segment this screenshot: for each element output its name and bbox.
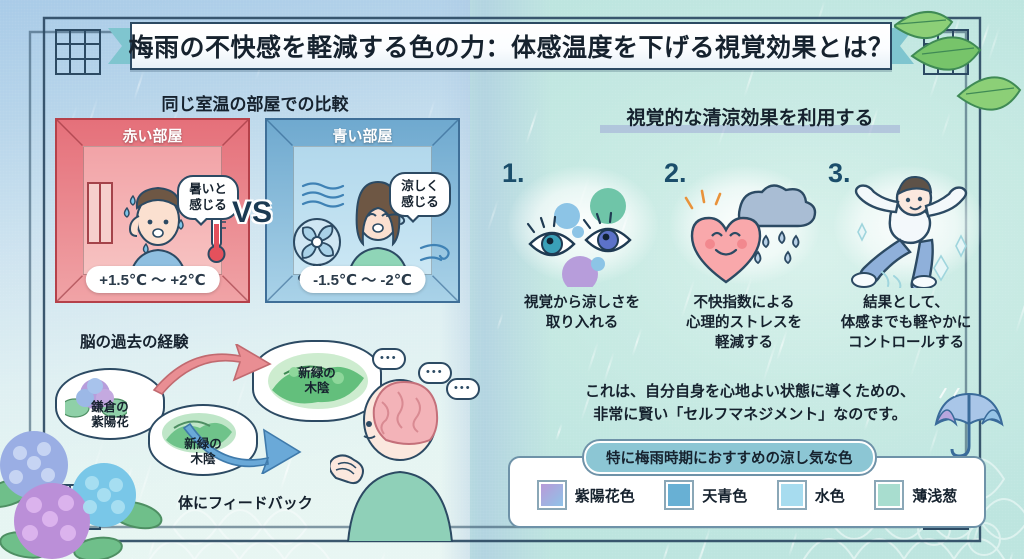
memory-cloud-greenshade: 新緑の 木陰 [148,404,258,476]
caption-line-3: 軽減する [715,335,773,351]
swatch-label: 天青色 [702,485,747,506]
page-title: 梅雨の不快感を軽減する色の力：体感温度を下げる視覚効果とは？ [129,28,894,64]
swatch-item-0[interactable]: 紫陽花色 [537,480,635,510]
feedback-label: 体にフィードバック [178,492,313,513]
memory-label-line1: 鎌倉の [91,400,129,414]
brain-experience-heading: 脳の過去の経験 [80,330,189,352]
thought-label-line2: 木陰 [304,381,329,395]
summary-paragraph: これは、自分自身を心地よい状態に導くための、 非常に賢い「セルフマネジメント」な… [520,381,980,426]
caption-line-2: 取り入れる [546,315,619,331]
swatch-item-1[interactable]: 天青色 [664,480,747,510]
step-glow [834,166,984,284]
speech-dots-3: ••• [446,378,480,400]
bubble-line-2: 感じる [189,198,227,212]
caption-line-1: 不快指数による [693,295,794,311]
swatch-chip-tensei [664,480,694,510]
swatch-row: 紫陽花色 天青色 水色 薄浅葱 [510,480,984,510]
memory-label-line1: 新緑の [184,437,222,451]
swatch-label: 薄浅葱 [912,485,957,506]
caption-line-2: 体感までも軽やかに [841,315,972,331]
step-glow [508,166,658,284]
swatch-card-title: 特に梅雨時期におすすめの涼し気な色 [584,441,875,474]
speech-bubble-hot: 暑いと 感じる [177,175,239,220]
temperature-badge-blue: -1.5℃ ～ -2℃ [299,266,426,293]
paragraph-line-1: これは、自分自身を心地よい状態に導くための、 [585,383,915,400]
step-glow [670,166,820,284]
thought-dot-small [372,408,382,418]
room-label-blue: 青い部屋 [267,125,458,146]
step-3-caption: 結果として、 体感までも軽やかに コントロールする [818,293,994,353]
caption-line-2: 心理的ストレスを [686,315,802,331]
caption-line-3: コントロールする [848,335,964,351]
caption-line-1: 視覚から涼しさを [524,295,640,311]
swatch-label: 紫陽花色 [575,485,635,506]
swatch-chip-usuasagi [874,480,904,510]
bubble-line-1: 涼しく [401,179,439,193]
thought-cloud-greenshade: 新緑の 木陰 [252,340,382,422]
swatch-item-2[interactable]: 水色 [777,480,845,510]
infographic-poster: 梅雨の不快感を軽減する色の力：体感温度を下げる視覚効果とは？ 同じ室温の部屋での… [0,0,1024,559]
vs-label: VS [232,196,272,230]
title-banner: 梅雨の不快感を軽減する色の力：体感温度を下げる視覚効果とは？ [130,22,892,70]
memory-label-line2: 木陰 [190,452,215,466]
paragraph-line-2: 非常に賢い「セルフマネジメント」なのです。 [593,406,907,423]
thought-dot-tiny [386,420,392,426]
comparison-heading: 同じ室温の部屋での比較 [60,90,450,115]
swatch-item-3[interactable]: 薄浅葱 [874,480,957,510]
speech-bubble-cool: 涼しく 感じる [389,172,451,217]
temperature-badge-red: +1.5℃ ～ +2℃ [85,266,219,293]
speech-dots-1: ••• [372,348,406,370]
swatch-chip-mizuiro [777,480,807,510]
right-section-heading: 視覚的な清涼効果を利用する [500,103,1000,130]
room-label-red: 赤い部屋 [57,125,248,146]
step-number: 1. [502,158,525,189]
room-card-blue: 青い部屋 [265,118,460,303]
step-number: 2. [664,158,687,189]
room-card-red: 赤い部屋 [55,118,250,303]
bubble-line-2: 感じる [401,195,439,209]
bubble-line-1: 暑いと [189,182,227,196]
step-2-caption: 不快指数による 心理的ストレスを 軽減する [656,293,832,353]
memory-label-line2: 紫陽花 [91,415,129,429]
swatch-label: 水色 [815,485,845,506]
thought-label-line1: 新緑の [298,366,336,380]
caption-line-1: 結果として、 [863,295,949,311]
step-1-caption: 視覚から涼しさを 取り入れる [494,293,670,333]
swatch-chip-ajisai [537,480,567,510]
speech-dots-2: ••• [418,362,452,384]
step-number: 3. [828,158,851,189]
title-box: 梅雨の不快感を軽減する色の力：体感温度を下げる視覚効果とは？ [130,22,892,70]
